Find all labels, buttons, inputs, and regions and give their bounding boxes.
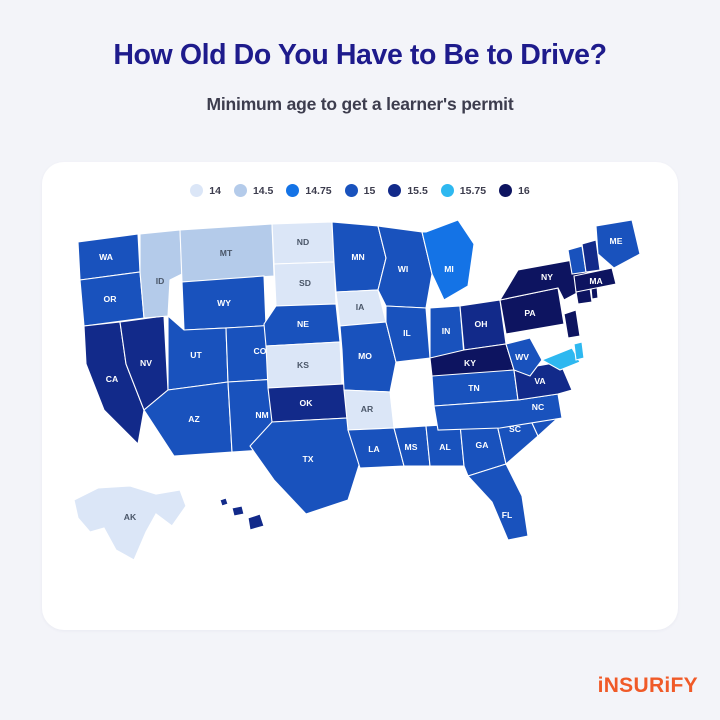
- legend: 1414.514.751515.515.7516: [42, 184, 678, 197]
- legend-label: 15.5: [407, 185, 427, 197]
- us-choropleth-map: WAORCANVIDMTWYUTCOAZNMNDSDNEKSOKTXMNIAMO…: [60, 214, 660, 614]
- legend-item: 15.5: [388, 184, 427, 197]
- legend-label: 14.75: [305, 185, 331, 197]
- map-region-tx[interactable]: [250, 418, 360, 514]
- map-region-ne[interactable]: [264, 304, 340, 346]
- map-region-wy[interactable]: [182, 276, 266, 330]
- legend-swatch-icon: [234, 184, 247, 197]
- map-region-ak[interactable]: [74, 486, 186, 560]
- map-region-mn[interactable]: [332, 222, 386, 292]
- map-region-mo[interactable]: [340, 322, 396, 392]
- map-region-hi[interactable]: [220, 498, 264, 530]
- map-region-de[interactable]: [574, 342, 584, 360]
- legend-item: 14.5: [234, 184, 273, 197]
- page-title: How Old Do You Have to Be to Drive?: [0, 38, 720, 72]
- map-region-nj[interactable]: [564, 310, 580, 338]
- legend-swatch-icon: [499, 184, 512, 197]
- legend-label: 16: [518, 185, 530, 197]
- legend-item: 15: [345, 184, 376, 197]
- map-region-or[interactable]: [80, 272, 144, 326]
- legend-label: 14.5: [253, 185, 273, 197]
- legend-label: 15: [364, 185, 376, 197]
- legend-swatch-icon: [441, 184, 454, 197]
- page-subtitle: Minimum age to get a learner's permit: [0, 72, 720, 115]
- legend-item: 16: [499, 184, 530, 197]
- map-region-sd[interactable]: [274, 262, 336, 306]
- map-region-mt[interactable]: [180, 224, 274, 282]
- map-region-fl[interactable]: [468, 464, 528, 540]
- legend-label: 14: [209, 185, 221, 197]
- legend-swatch-icon: [345, 184, 358, 197]
- map-region-in[interactable]: [430, 306, 464, 358]
- map-region-nd[interactable]: [272, 222, 334, 264]
- legend-swatch-icon: [190, 184, 203, 197]
- map-region-ks[interactable]: [266, 342, 342, 388]
- map-region-oh[interactable]: [460, 300, 506, 350]
- map-region-ia[interactable]: [336, 290, 386, 326]
- map-svg: WAORCANVIDMTWYUTCOAZNMNDSDNEKSOKTXMNIAMO…: [60, 214, 660, 614]
- legend-swatch-icon: [286, 184, 299, 197]
- infographic-page: How Old Do You Have to Be to Drive? Mini…: [0, 0, 720, 720]
- map-card: 1414.514.751515.515.7516 WAORCANVIDMTWYU…: [42, 162, 678, 630]
- legend-item: 15.75: [441, 184, 486, 197]
- header: How Old Do You Have to Be to Drive? Mini…: [0, 0, 720, 115]
- map-region-me[interactable]: [596, 220, 640, 268]
- legend-item: 14.75: [286, 184, 331, 197]
- legend-swatch-icon: [388, 184, 401, 197]
- map-region-ok[interactable]: [268, 384, 348, 422]
- legend-item: 14: [190, 184, 221, 197]
- insurify-logo: iNSURiFY: [598, 674, 698, 698]
- map-region-ar[interactable]: [344, 390, 394, 430]
- legend-label: 15.75: [460, 185, 486, 197]
- map-region-id[interactable]: [140, 230, 182, 318]
